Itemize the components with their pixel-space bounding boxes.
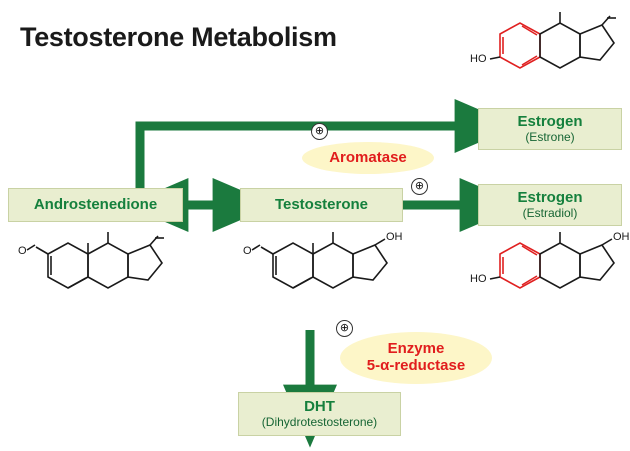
androstenedione-o-label: O bbox=[18, 245, 27, 257]
node-dht[interactable]: DHT (Dihydrotestosterone) bbox=[238, 392, 401, 436]
plus-aromatase-estradiol: ⊕ bbox=[411, 178, 428, 195]
plus-aromatase-estrone: ⊕ bbox=[311, 123, 328, 140]
structure-androstenedione: O bbox=[18, 232, 164, 288]
testosterone-oh-label: OH bbox=[386, 231, 403, 243]
estrone-ho-label: HO bbox=[470, 53, 487, 65]
node-estrone-sublabel: (Estrone) bbox=[525, 131, 574, 145]
plus-aromatase-estrone-label: ⊕ bbox=[315, 124, 324, 137]
plus-aromatase-estradiol-label: ⊕ bbox=[415, 179, 424, 192]
node-dht-label: DHT bbox=[304, 398, 335, 415]
estradiol-oh-label: OH bbox=[613, 231, 630, 243]
structure-estradiol: HO OH bbox=[470, 231, 630, 288]
enzyme-aromatase-label: Aromatase bbox=[329, 150, 407, 167]
node-estradiol-label: Estrogen bbox=[517, 189, 582, 206]
plus-reductase-dht: ⊕ bbox=[336, 320, 353, 337]
node-testosterone-label: Testosterone bbox=[275, 196, 368, 213]
diagram-canvas: Testosterone Metabolism bbox=[0, 0, 630, 451]
plus-reductase-dht-label: ⊕ bbox=[340, 321, 349, 334]
testosterone-o-label: O bbox=[243, 245, 252, 257]
estradiol-ho-label: HO bbox=[470, 273, 487, 285]
node-dht-sublabel: (Dihydrotestosterone) bbox=[262, 416, 377, 430]
node-estradiol[interactable]: Estrogen (Estradiol) bbox=[478, 184, 622, 226]
node-estrone[interactable]: Estrogen (Estrone) bbox=[478, 108, 622, 150]
node-testosterone[interactable]: Testosterone bbox=[240, 188, 403, 222]
enzyme-aromatase: Aromatase bbox=[302, 142, 434, 174]
enzyme-reductase-line1: Enzyme bbox=[388, 341, 445, 358]
enzyme-reductase-line2: 5-α-reductase bbox=[367, 358, 465, 375]
node-estrone-label: Estrogen bbox=[517, 113, 582, 130]
node-estradiol-sublabel: (Estradiol) bbox=[523, 207, 578, 221]
structure-testosterone: O OH bbox=[243, 231, 403, 288]
node-androstenedione-label: Androstenedione bbox=[34, 196, 157, 213]
node-androstenedione[interactable]: Androstenedione bbox=[8, 188, 183, 222]
enzyme-5-alpha-reductase: Enzyme 5-α-reductase bbox=[340, 332, 492, 384]
structure-estrone: HO bbox=[470, 12, 616, 68]
